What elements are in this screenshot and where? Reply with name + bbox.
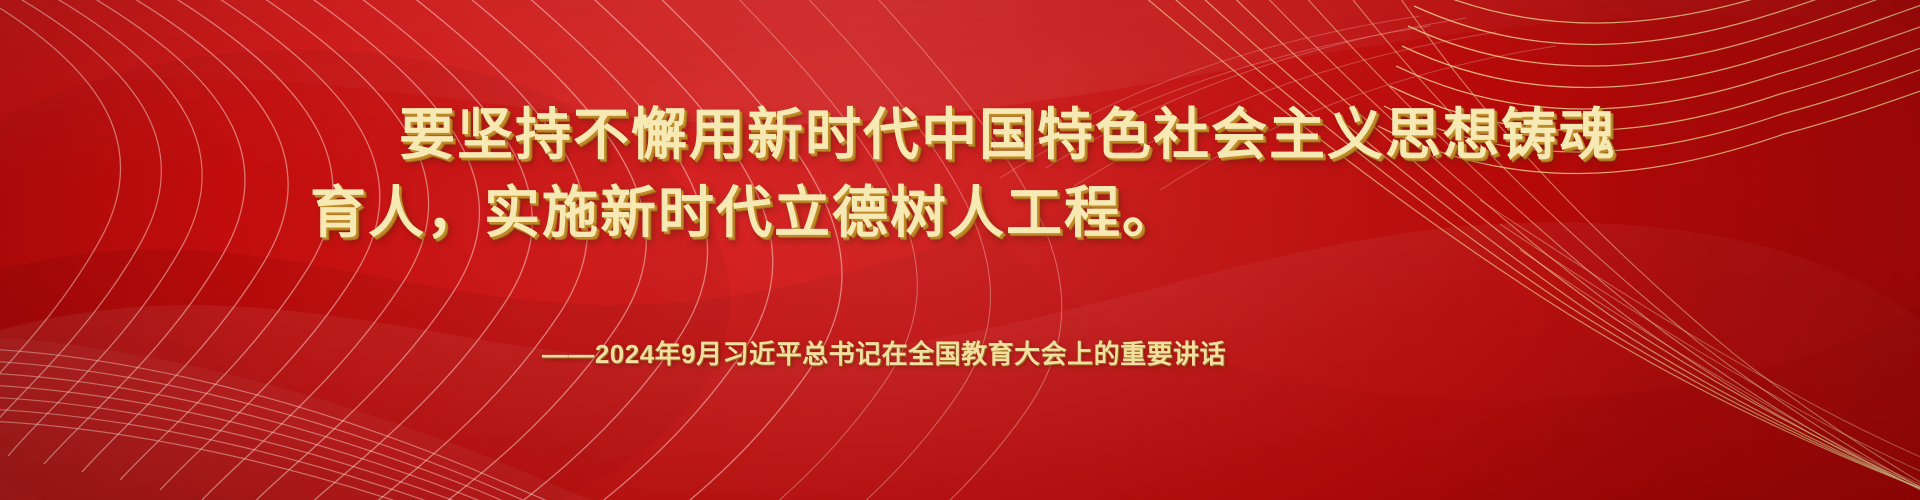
attribution-block: ——2024年9月习近平总书记在全国教育大会上的重要讲话 — [0, 336, 1920, 372]
quote-block: 要坚持不懈用新时代中国特色社会主义思想铸魂 育人，实施新时代立德树人工程。 — [0, 96, 1920, 252]
attribution-text: ——2024年9月习近平总书记在全国教育大会上的重要讲话 — [542, 339, 1226, 369]
quote-line-1: 要坚持不懈用新时代中国特色社会主义思想铸魂 — [0, 96, 1920, 174]
quote-line-2: 育人，实施新时代立德树人工程。 — [0, 174, 1920, 252]
propaganda-banner: 要坚持不懈用新时代中国特色社会主义思想铸魂 育人，实施新时代立德树人工程。 ——… — [0, 0, 1920, 500]
